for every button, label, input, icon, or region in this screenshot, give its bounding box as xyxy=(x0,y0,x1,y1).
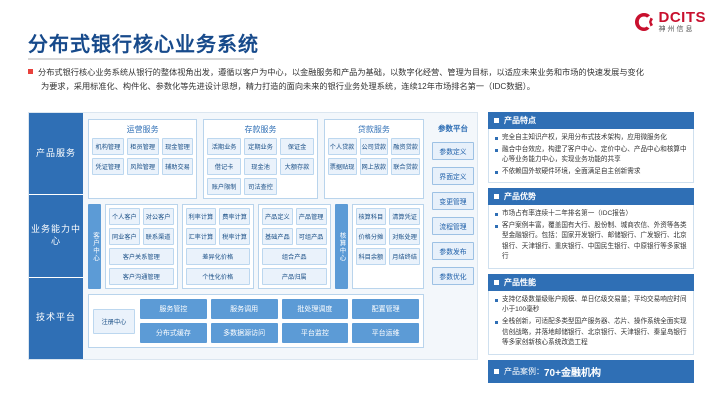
square-bullet-icon xyxy=(494,280,499,285)
layer-label-platform: 技术平台 xyxy=(29,278,83,359)
service-cell[interactable]: 公司贷款 xyxy=(360,138,389,155)
panel-item: 不依赖国外软硬件环境，全面满足自主创新需求 xyxy=(495,167,687,178)
capability-cell[interactable]: 客户沟通管理 xyxy=(109,268,174,285)
case-label: 产品案例： xyxy=(504,366,544,377)
capability-cell[interactable]: 费率计算 xyxy=(219,208,250,225)
service-cell[interactable]: 定期业务 xyxy=(244,138,277,155)
service-cell[interactable]: 司法查控 xyxy=(244,178,277,195)
brand-logo: DCITS 神州信息 xyxy=(633,10,707,33)
panel-title: 产品性能 xyxy=(504,277,536,288)
tech-cell[interactable]: 服务管控 xyxy=(140,299,207,319)
capability-cell[interactable]: 对账处理 xyxy=(389,228,420,245)
service-cell[interactable]: 现金池 xyxy=(244,158,277,175)
square-bullet-icon xyxy=(494,369,499,374)
service-cell[interactable]: 柜员管理 xyxy=(127,138,159,155)
panel-title: 产品优势 xyxy=(504,191,536,202)
capability-cell[interactable]: 产品归属 xyxy=(262,268,327,285)
service-cell[interactable]: 融资贷款 xyxy=(391,138,420,155)
service-cell[interactable]: 凭证管理 xyxy=(92,158,124,175)
tech-cell[interactable]: 平台监控 xyxy=(282,323,349,343)
capability-cell[interactable]: 产品管理 xyxy=(296,208,327,225)
service-cell[interactable]: 活期业务 xyxy=(207,138,240,155)
tech-cell[interactable]: 批处理调度 xyxy=(282,299,349,319)
dcits-logo-mark xyxy=(633,11,655,33)
capability-cell[interactable]: 客户关系管理 xyxy=(109,248,174,265)
product-center-box: 产品定义 产品管理 基础产品 可组产品 组合产品 产品归属 xyxy=(258,204,331,289)
service-cell[interactable]: 借记卡 xyxy=(207,158,240,175)
vertical-label-customer-center: 客户中心 xyxy=(88,204,101,289)
capability-cell[interactable]: 差异化价格 xyxy=(186,248,251,265)
capability-cell[interactable]: 个人客户 xyxy=(109,208,140,225)
capability-cell[interactable]: 同业客户 xyxy=(109,228,140,245)
capability-cell[interactable]: 产品定义 xyxy=(262,208,293,225)
service-group-operations: 运营服务 机构管理 柜员管理 现金管理 凭证管理 风险管理 辅助交易 xyxy=(88,119,197,199)
panel-item: 市场占有率连续十二年排名第一（IDC报告） xyxy=(495,209,687,220)
panel-title: 产品特点 xyxy=(504,115,536,126)
logo-text-cn: 神州信息 xyxy=(659,26,707,33)
service-cell[interactable]: 票据贴现 xyxy=(328,158,357,175)
group-title-loan: 贷款服务 xyxy=(328,124,420,135)
service-cell[interactable]: 风险管理 xyxy=(127,158,159,175)
architecture-diagram: 产品服务 业务能力中心 技术平台 运营服务 机构管理 柜员管理 现金管理 凭证管… xyxy=(28,112,478,360)
param-chip[interactable]: 参数定义 xyxy=(432,142,474,160)
capability-cell[interactable]: 核算科目 xyxy=(356,208,387,225)
intro-paragraph: 分布式银行核心业务系统从银行的整体视角出发，遵循以客户为中心，以金融服务和产品为… xyxy=(28,66,694,95)
capability-cell[interactable]: 个性化价格 xyxy=(186,268,251,285)
capability-cell[interactable]: 可组产品 xyxy=(296,228,327,245)
square-bullet-icon xyxy=(494,118,499,123)
parameter-platform-title: 参数平台 xyxy=(432,123,474,134)
vertical-label-accounting-center: 核算中心 xyxy=(335,204,348,289)
capability-cell[interactable]: 利率计算 xyxy=(186,208,217,225)
service-cell[interactable]: 网上放款 xyxy=(360,158,389,175)
service-groups-row: 运营服务 机构管理 柜员管理 现金管理 凭证管理 风险管理 辅助交易 存款服务 … xyxy=(88,119,424,199)
layer-label-product: 产品服务 xyxy=(29,113,83,195)
logo-text-en: DCITS xyxy=(659,10,707,25)
tech-cell[interactable]: 分布式缓存 xyxy=(140,323,207,343)
capability-cell[interactable]: 基础产品 xyxy=(262,228,293,245)
param-chip[interactable]: 参数优化 xyxy=(432,267,474,285)
tech-cell[interactable]: 服务调用 xyxy=(211,299,278,319)
panel-item: 全栈创新，可适配多类型国产服务器、芯片、操作系统全面实现信创战略，并落地邮储银行… xyxy=(495,317,687,349)
panel-item: 支持亿级数量级账户规模、单日亿级交易量；平均交易响应时间小于100毫秒 xyxy=(495,295,687,316)
bullet-icon xyxy=(28,69,33,74)
diagram-left-labels: 产品服务 业务能力中心 技术平台 xyxy=(29,113,83,359)
panel-product-advantages: 产品优势 市场占有率连续十二年排名第一（IDC报告） 客户案例丰富，覆盖国有大行… xyxy=(488,188,694,269)
panel-item: 融合中台效应，构建了客户中心、定价中心、产品中心和核算中心等业务能力中心，实现业… xyxy=(495,145,687,166)
intro-line-1: 分布式银行核心业务系统从银行的整体视角出发，遵循以客户为中心，以金融服务和产品为… xyxy=(38,68,644,77)
customer-center-box: 个人客户 对公客户 同业客户 联系渠道 客户关系管理 客户沟通管理 xyxy=(105,204,178,289)
square-bullet-icon xyxy=(494,194,499,199)
capability-cell[interactable]: 对公客户 xyxy=(143,208,174,225)
group-title-deposit: 存款服务 xyxy=(207,124,313,135)
registry-center-cell[interactable]: 注册中心 xyxy=(93,309,135,334)
capability-cell[interactable]: 汇率计算 xyxy=(186,228,217,245)
pricing-center-box: 利率计算 费率计算 汇率计算 税率计算 差异化价格 个性化价格 xyxy=(182,204,255,289)
capability-cell[interactable]: 科目余额 xyxy=(356,248,387,265)
intro-line-2: 为要求，采用标准化、构件化、参数化等先进设计思想，精力打造的面向未来的银行业务处… xyxy=(41,82,535,91)
case-banner: 产品案例： 70+金融机构 xyxy=(488,360,694,383)
title-divider xyxy=(28,58,254,60)
accounting-center-box: 核算科目 清算凭证 价格分摊 对账处理 科目余额 月结终结 xyxy=(352,204,425,289)
panel-header: 产品性能 xyxy=(488,274,694,291)
param-chip[interactable]: 界面定义 xyxy=(432,167,474,185)
diagram-content: 运营服务 机构管理 柜员管理 现金管理 凭证管理 风险管理 辅助交易 存款服务 … xyxy=(83,113,429,359)
tech-cell[interactable]: 配置管理 xyxy=(352,299,419,319)
param-chip[interactable]: 变更管理 xyxy=(432,192,474,210)
service-cell[interactable]: 大额存款 xyxy=(280,158,313,175)
capability-cell[interactable]: 组合产品 xyxy=(262,248,327,265)
group-title-operations: 运营服务 xyxy=(92,124,193,135)
service-cell[interactable]: 机构管理 xyxy=(92,138,124,155)
panel-header: 产品优势 xyxy=(488,188,694,205)
service-cell[interactable]: 个人贷款 xyxy=(328,138,357,155)
feature-panels: 产品特点 完全自主知识产权，采用分布式技术架构，应用微服务化 融合中台效应，构建… xyxy=(488,112,694,383)
capability-cell[interactable]: 清算凭证 xyxy=(389,208,420,225)
case-value: 70+金融机构 xyxy=(544,364,601,379)
parameter-platform-column: 参数平台 参数定义 界面定义 变更管理 流程管理 参数发布 参数优化 xyxy=(429,113,477,359)
page-title: 分布式银行核心业务系统 xyxy=(28,28,259,57)
service-group-deposit: 存款服务 活期业务 定期业务 保证金 借记卡 现金池 大额存款 账户限制 司法查… xyxy=(203,119,317,199)
panel-product-performance: 产品性能 支持亿级数量级账户规模、单日亿级交易量；平均交易响应时间小于100毫秒… xyxy=(488,274,694,355)
panel-item: 完全自主知识产权，采用分布式技术架构，应用微服务化 xyxy=(495,133,687,144)
panel-body: 市场占有率连续十二年排名第一（IDC报告） 客户案例丰富，覆盖国有大行、股份制、… xyxy=(488,205,694,269)
tech-platform-box: 注册中心 服务管控 服务调用 批处理调度 配置管理 分布式缓存 多数据源访问 平… xyxy=(88,294,424,348)
tech-cell[interactable]: 多数据源访问 xyxy=(211,323,278,343)
layer-label-capability: 业务能力中心 xyxy=(29,195,83,277)
tech-cell[interactable]: 平台运维 xyxy=(352,323,419,343)
panel-product-features: 产品特点 完全自主知识产权，采用分布式技术架构，应用微服务化 融合中台效应，构建… xyxy=(488,112,694,183)
service-cell[interactable]: 辅助交易 xyxy=(162,158,194,175)
service-group-loan: 贷款服务 个人贷款 公司贷款 融资贷款 票据贴现 网上放款 联合贷款 xyxy=(324,119,424,199)
capability-row: 客户中心 个人客户 对公客户 同业客户 联系渠道 客户关系管理 客户沟通管理 利… xyxy=(88,204,424,289)
panel-item: 客户案例丰富，覆盖国有大行、股份制、城商农信、外资等各类型金融银行。包括：国家开… xyxy=(495,221,687,263)
param-chip[interactable]: 参数发布 xyxy=(432,242,474,260)
panel-body: 支持亿级数量级账户规模、单日亿级交易量；平均交易响应时间小于100毫秒 全栈创新… xyxy=(488,291,694,355)
service-cell[interactable]: 联合贷款 xyxy=(391,158,420,175)
service-cell[interactable]: 账户限制 xyxy=(207,178,240,195)
capability-cell[interactable]: 联系渠道 xyxy=(143,228,174,245)
panel-body: 完全自主知识产权，采用分布式技术架构，应用微服务化 融合中台效应，构建了客户中心… xyxy=(488,129,694,183)
capability-cell[interactable]: 月结终结 xyxy=(389,248,420,265)
capability-cell[interactable]: 价格分摊 xyxy=(356,228,387,245)
capability-cell[interactable]: 税率计算 xyxy=(219,228,250,245)
service-cell[interactable]: 保证金 xyxy=(280,138,313,155)
panel-header: 产品特点 xyxy=(488,112,694,129)
service-cell[interactable]: 现金管理 xyxy=(162,138,194,155)
param-chip[interactable]: 流程管理 xyxy=(432,217,474,235)
